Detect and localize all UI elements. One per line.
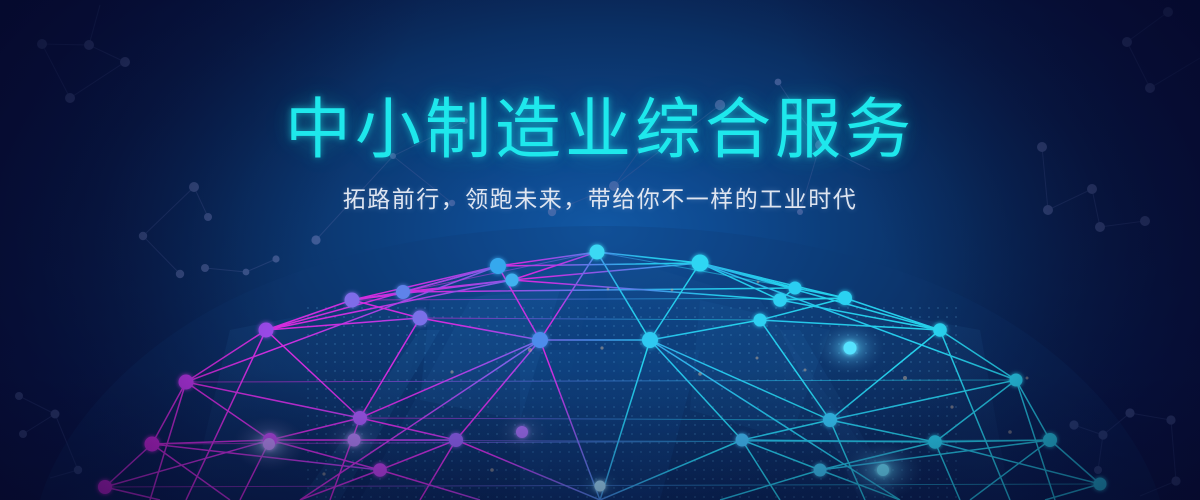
hero-text-block: 中小制造业综合服务 拓路前行，领跑未来，带给你不一样的工业时代 [0, 96, 1200, 211]
page-subtitle: 拓路前行，领跑未来，带给你不一样的工业时代 [0, 188, 1200, 211]
speck-decoration [0, 0, 1200, 500]
hero-banner: 中小制造业综合服务 拓路前行，领跑未来，带给你不一样的工业时代 [0, 0, 1200, 500]
page-title: 中小制造业综合服务 [0, 96, 1200, 162]
